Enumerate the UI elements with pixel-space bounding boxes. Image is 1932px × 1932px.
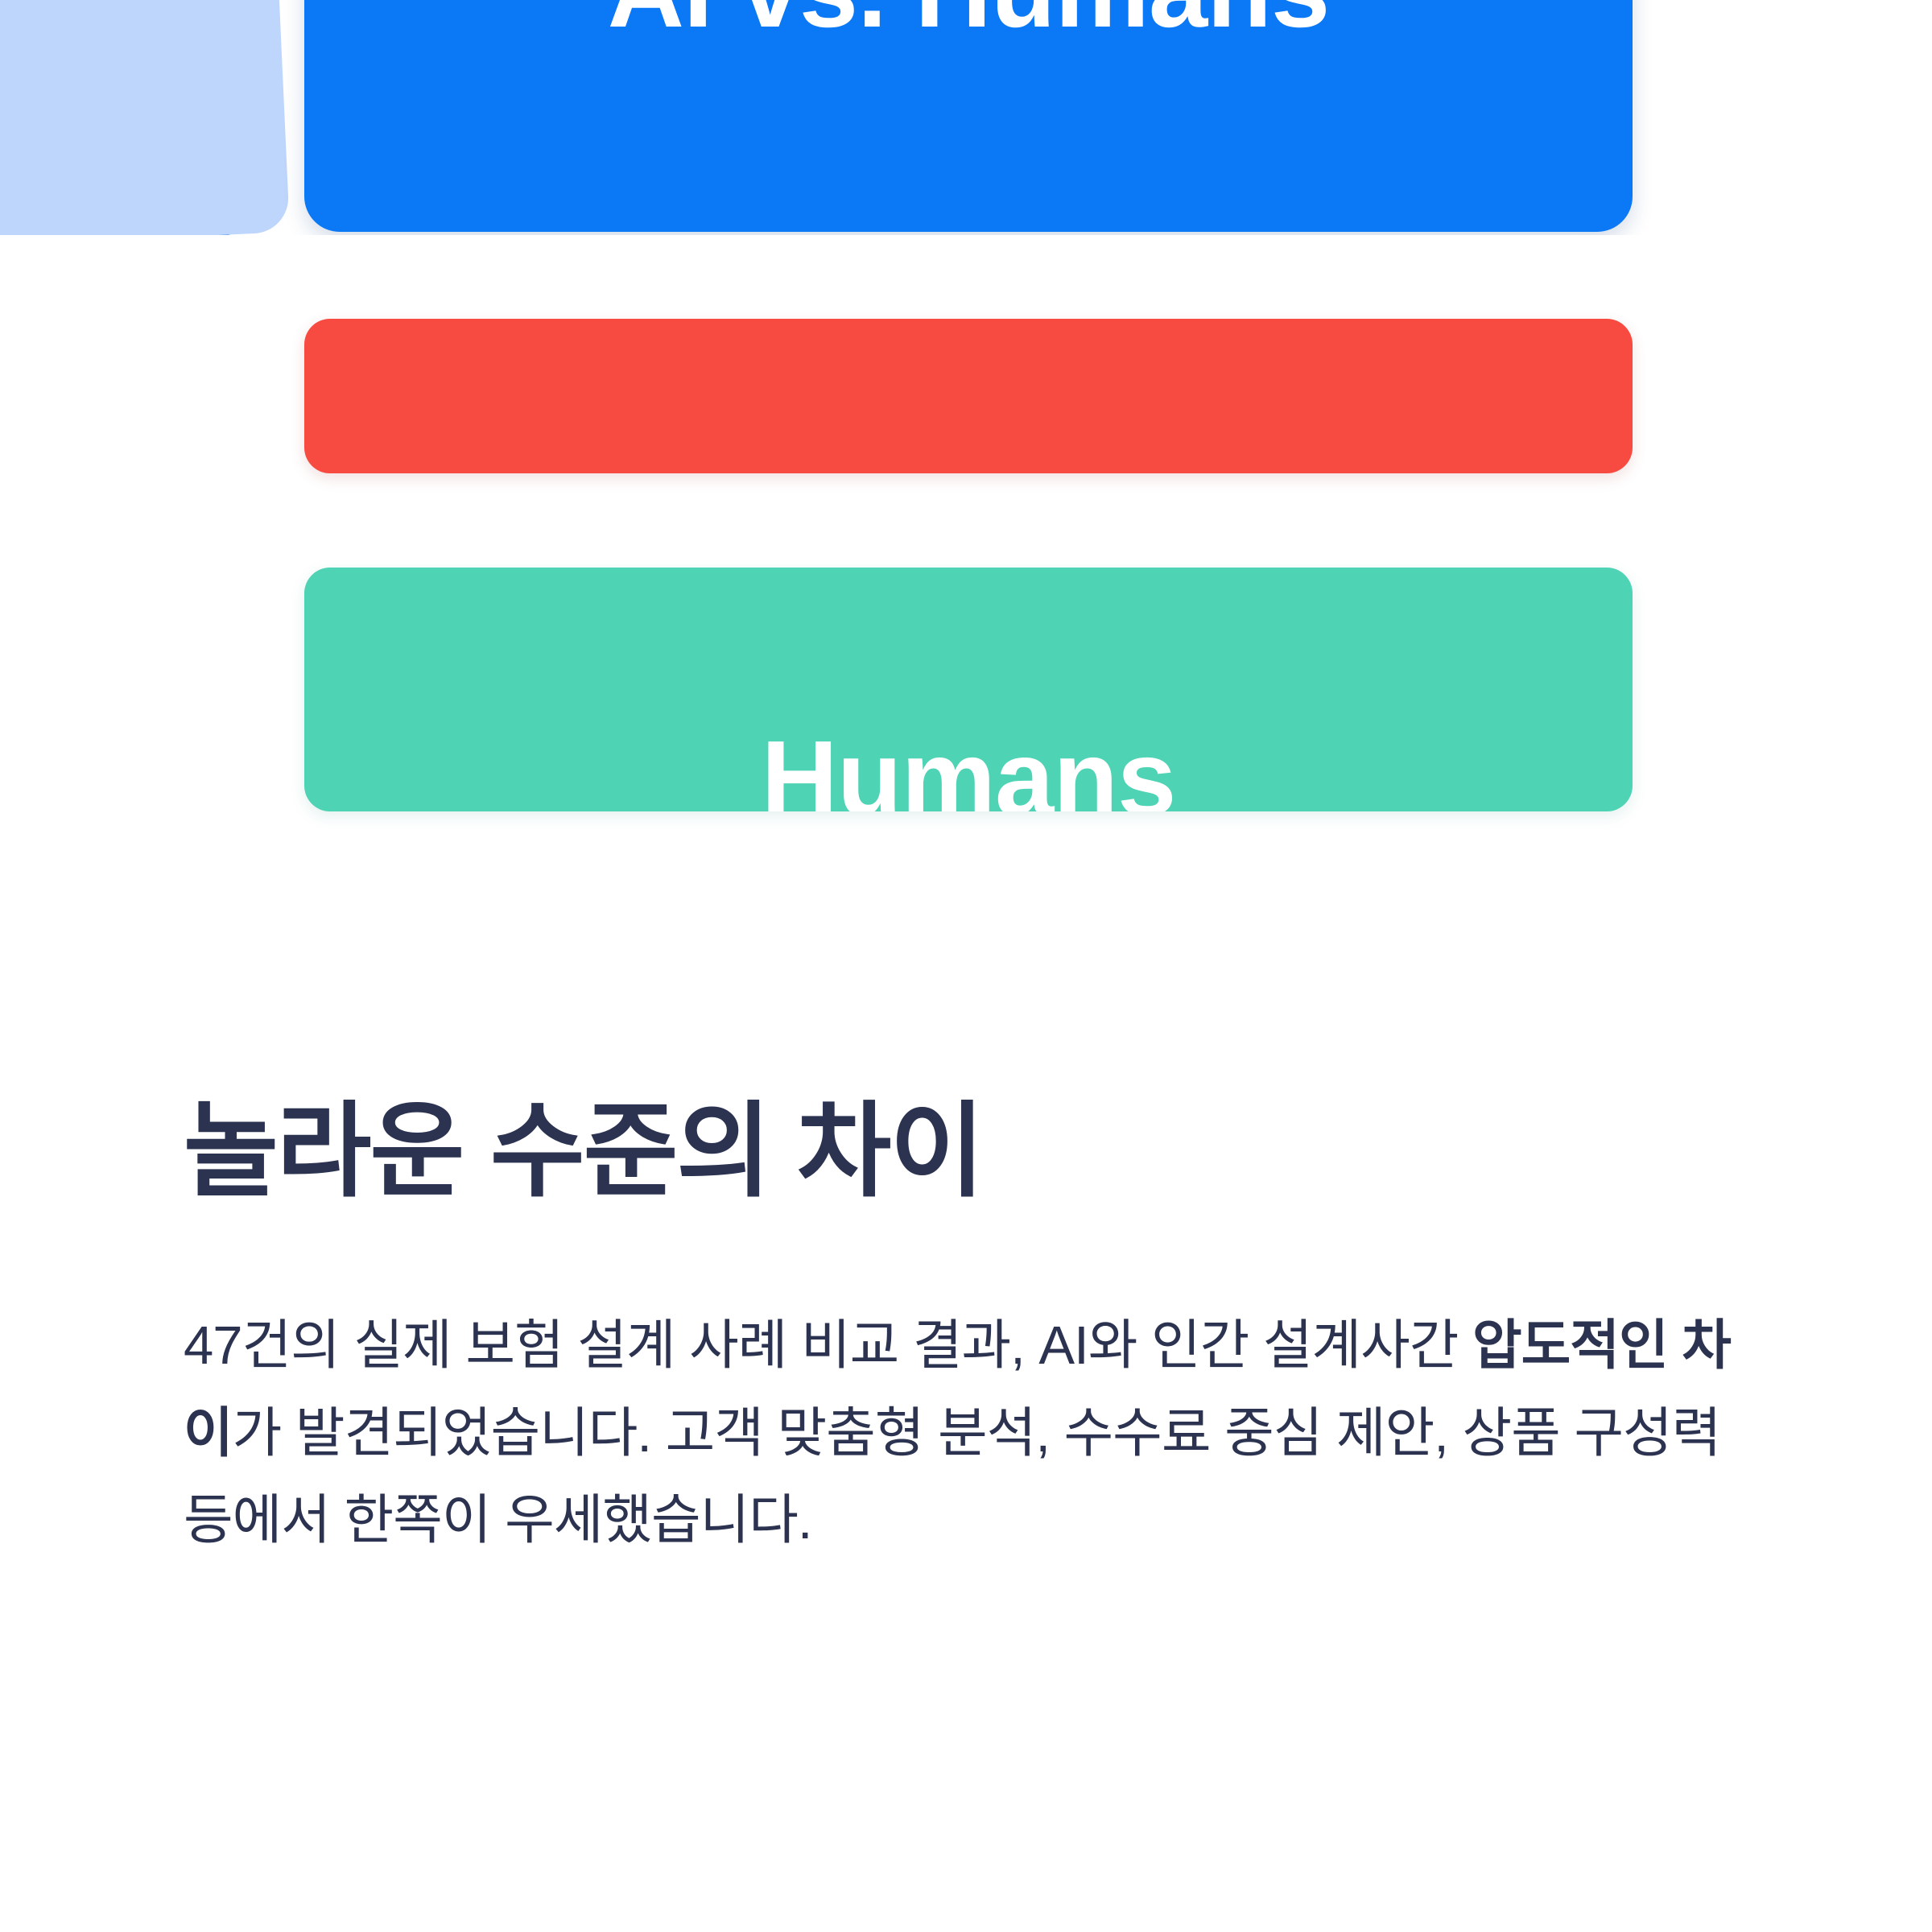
card-stack-middle-layer bbox=[0, 0, 290, 235]
body-paragraph: 47건의 실제 보험 설계 사례 비교 결과, AI와 인간 설계사간 압도적인… bbox=[184, 1212, 1741, 1565]
body-tail: 가 발견되었습니다. 고객 맞춤형 분석, 수수료 중심 제안, 상품 구성력 … bbox=[184, 1403, 1720, 1551]
red-divider-card[interactable] bbox=[304, 319, 1633, 473]
copy-block: 놀라운 수준의 차이 47건의 실제 보험 설계 사례 비교 결과, AI와 인… bbox=[184, 1091, 1761, 1565]
ai-card[interactable]: AI vs. Humans bbox=[304, 0, 1633, 232]
humans-card-title: Humans bbox=[304, 725, 1633, 811]
slide-root: AI vs. Humans Humans 놀라운 수준의 차이 47건의 실제 … bbox=[0, 0, 1932, 1932]
card-stack: AI vs. Humans bbox=[0, 0, 1932, 235]
page-title: 놀라운 수준의 차이 bbox=[184, 1091, 1761, 1212]
humans-card[interactable]: Humans bbox=[304, 568, 1633, 811]
ai-card-title: AI vs. Humans bbox=[304, 0, 1633, 43]
body-lead: 47건의 실제 보험 설계 사례 비교 결과, AI와 인간 설계사간 bbox=[184, 1315, 1472, 1376]
